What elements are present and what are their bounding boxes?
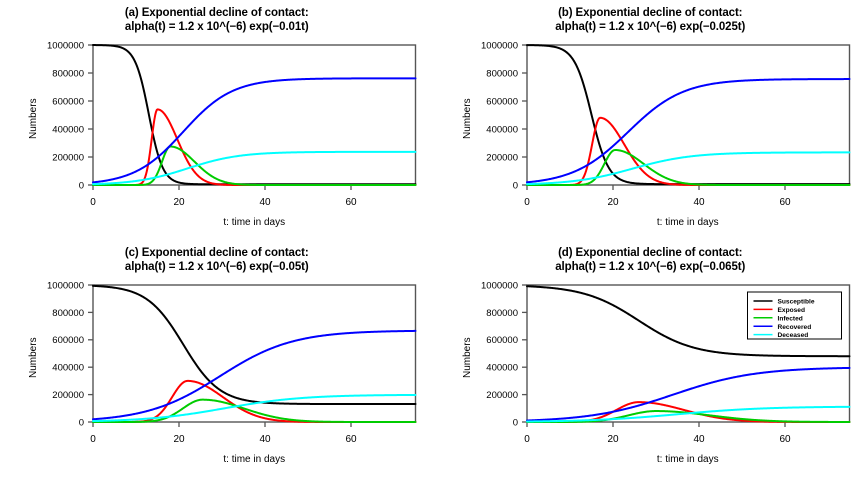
x-tick-label: 0	[524, 434, 530, 445]
y-axis-label: Numbers	[462, 337, 473, 378]
y-tick-label: 1000000	[481, 280, 518, 291]
panel-b-plot: 020000040000060000080000010000000204060N…	[434, 0, 867, 240]
y-tick-label: 200000	[486, 390, 518, 401]
y-tick-label: 800000	[486, 68, 518, 79]
y-tick-label: 400000	[486, 124, 518, 135]
series-line-deceased	[527, 407, 850, 422]
panel-a-plot: 020000040000060000080000010000000204060N…	[0, 0, 434, 240]
y-tick-label: 600000	[486, 335, 518, 346]
figure-panel-grid: (a) Exponential decline of contact: alph…	[0, 0, 867, 477]
x-tick-label: 60	[779, 434, 791, 445]
y-tick-label: 400000	[52, 124, 84, 135]
x-axis-label: t: time in days	[527, 454, 850, 465]
legend-label-deceased: Deceased	[777, 332, 808, 339]
series-line-infected	[527, 150, 850, 185]
panel-d: (d) Exponential decline of contact: alph…	[434, 240, 867, 477]
series-line-susceptible	[93, 45, 416, 184]
y-tick-label: 0	[512, 417, 517, 428]
y-axis-label: Numbers	[28, 337, 39, 378]
series-line-susceptible	[93, 286, 416, 404]
y-tick-label: 0	[79, 417, 84, 428]
series-line-exposed	[93, 109, 416, 185]
panel-b: (b) Exponential decline of contact: alph…	[434, 0, 867, 240]
y-axis-label: Numbers	[462, 98, 473, 139]
y-tick-label: 800000	[52, 68, 84, 79]
series-line-susceptible	[527, 45, 850, 184]
x-tick-label: 20	[173, 197, 185, 208]
x-tick-label: 0	[90, 197, 96, 208]
y-tick-label: 200000	[52, 152, 84, 163]
series-line-deceased	[527, 152, 850, 184]
y-tick-label: 800000	[486, 308, 518, 319]
y-tick-label: 1000000	[47, 280, 84, 291]
x-tick-label: 40	[693, 434, 705, 445]
y-tick-label: 0	[79, 180, 84, 191]
y-tick-label: 600000	[486, 96, 518, 107]
x-tick-label: 20	[173, 434, 185, 445]
y-tick-label: 400000	[486, 363, 518, 374]
y-tick-label: 600000	[52, 335, 84, 346]
plot-box	[527, 45, 850, 185]
series-line-deceased	[93, 395, 416, 421]
x-tick-label: 0	[524, 197, 530, 208]
x-tick-label: 40	[259, 197, 271, 208]
legend-label-infected: Infected	[777, 315, 802, 322]
series-line-recovered	[93, 331, 416, 419]
plot-box	[93, 45, 416, 185]
x-axis-label: t: time in days	[93, 217, 416, 228]
series-line-recovered	[93, 78, 416, 182]
panel-a: (a) Exponential decline of contact: alph…	[0, 0, 434, 240]
legend-label-recovered: Recovered	[777, 324, 811, 331]
y-tick-label: 200000	[486, 152, 518, 163]
y-tick-label: 1000000	[47, 40, 84, 51]
panel-c: (c) Exponential decline of contact: alph…	[0, 240, 434, 477]
y-tick-label: 400000	[52, 363, 84, 374]
y-tick-label: 600000	[52, 96, 84, 107]
x-tick-label: 60	[779, 197, 791, 208]
legend-label-exposed: Exposed	[777, 307, 804, 314]
x-tick-label: 40	[693, 197, 705, 208]
y-tick-label: 0	[512, 180, 517, 191]
y-axis-label: Numbers	[28, 98, 39, 139]
y-tick-label: 200000	[52, 390, 84, 401]
legend-label-susceptible: Susceptible	[777, 299, 814, 306]
x-tick-label: 60	[345, 434, 357, 445]
x-tick-label: 60	[345, 197, 357, 208]
series-line-exposed	[527, 118, 850, 185]
x-tick-label: 20	[607, 434, 619, 445]
x-tick-label: 40	[259, 434, 271, 445]
panel-c-plot: 020000040000060000080000010000000204060N…	[0, 240, 434, 477]
x-tick-label: 20	[607, 197, 619, 208]
x-axis-label: t: time in days	[527, 217, 850, 228]
y-tick-label: 1000000	[481, 40, 518, 51]
panel-d-plot: 020000040000060000080000010000000204060S…	[434, 240, 867, 477]
series-line-recovered	[527, 79, 850, 182]
x-axis-label: t: time in days	[93, 454, 416, 465]
x-tick-label: 0	[90, 434, 96, 445]
y-tick-label: 800000	[52, 308, 84, 319]
